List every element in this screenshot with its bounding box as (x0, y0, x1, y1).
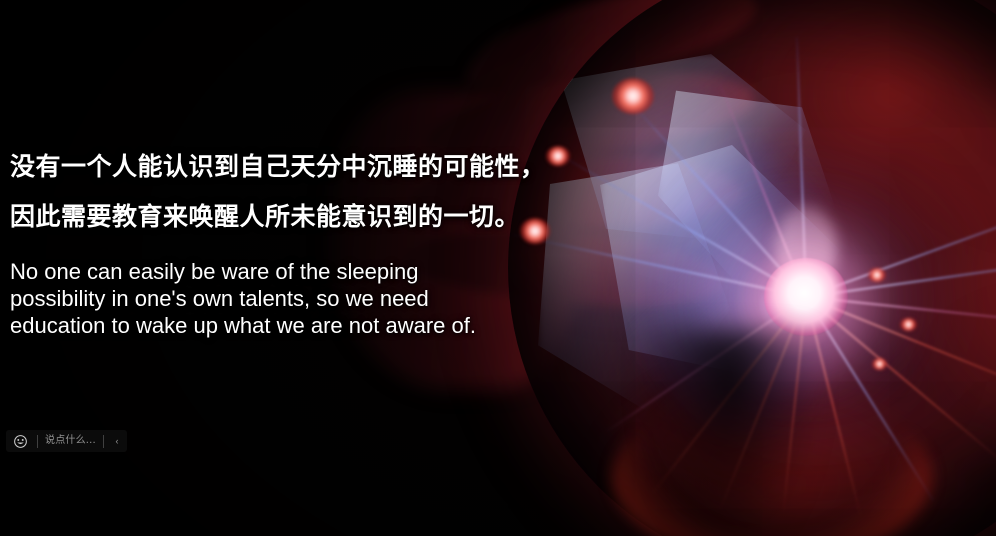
video-player-screen: 没有一个人能认识到自己天分中沉睡的可能性， 因此需要教育来唤醒人所未能意识到的一… (0, 0, 996, 536)
comment-bar[interactable]: 说点什么... ‹ (6, 430, 127, 452)
comment-input[interactable]: 说点什么... (45, 435, 96, 447)
plasma-membrane-1 (556, 54, 806, 244)
comment-bar-divider-2 (103, 435, 104, 448)
plasma-spark-3 (872, 358, 887, 370)
subtitle-chinese-line-2: 因此需要教育来唤醒人所未能意识到的一切。 (10, 192, 570, 242)
plasma-core (764, 258, 848, 336)
plasma-core-neck (776, 206, 836, 286)
subtitle-chinese-line-1: 没有一个人能认识到自己天分中沉睡的可能性， (10, 142, 570, 192)
fingertip-contact-1 (612, 78, 654, 114)
chevron-left-icon[interactable]: ‹ (111, 433, 123, 449)
smiley-face-icon[interactable] (10, 431, 30, 451)
plasma-spark-1 (868, 268, 886, 282)
subtitle-english: No one can easily be ware of the sleepin… (10, 258, 510, 339)
plasma-spark-2 (900, 318, 917, 331)
plasma-membrane-4 (658, 78, 838, 288)
subtitle-block: 没有一个人能认识到自己天分中沉睡的可能性， 因此需要教育来唤醒人所未能意识到的一… (10, 142, 570, 339)
comment-bar-divider (37, 435, 38, 448)
